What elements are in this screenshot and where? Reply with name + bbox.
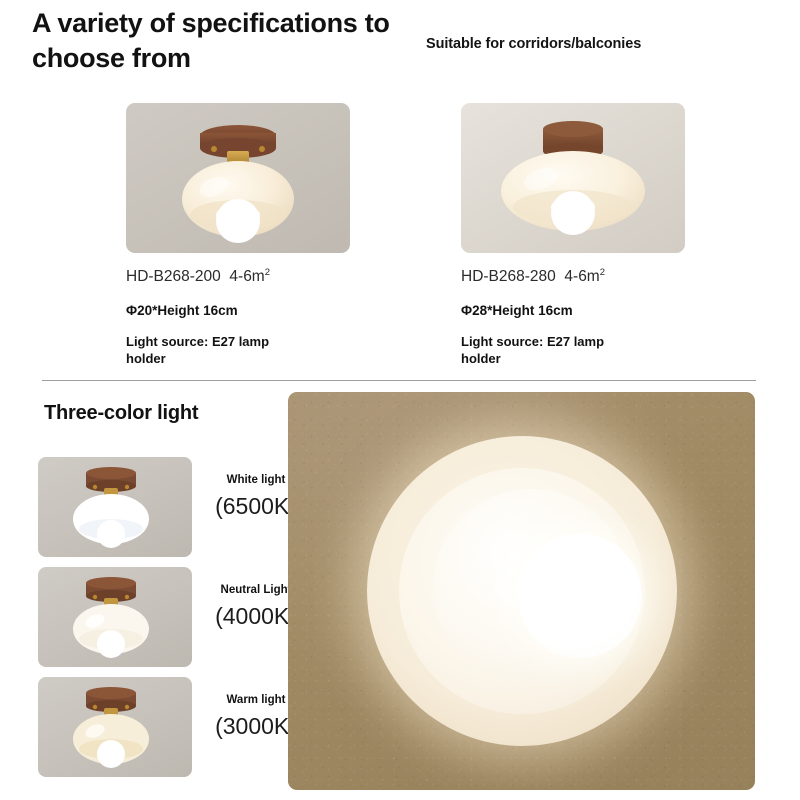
model-code: HD-B268-280: [461, 268, 556, 285]
dimensions-label: Φ20*Height 16cm: [126, 303, 436, 318]
dimensions-label: Φ28*Height 16cm: [461, 303, 771, 318]
spec-item-2: HD-B268-280 4-6m2 Φ28*Height 16cm Light …: [461, 103, 771, 367]
model-label: HD-B268-280 4-6m2: [461, 267, 771, 286]
ceiling-lamp-illustration: [38, 457, 192, 557]
light-source-label: Light source: E27 lamp holder: [461, 334, 636, 367]
subtitle-suitable-for: Suitable for corridors/balconies: [426, 36, 641, 52]
lamp-thumb-neutral-light: [38, 567, 192, 667]
three-color-heading: Three-color light: [44, 402, 198, 425]
color-temp-row-warm: Warm light (3000K): [38, 677, 288, 777]
ceiling-lamp-illustration: [126, 103, 350, 253]
spec-item-1: HD-B268-200 4-6m2 Φ20*Height 16cm Light …: [126, 103, 436, 367]
light-source-label: Light source: E27 lamp holder: [126, 334, 301, 367]
color-temp-row-white: White light (6500K): [38, 457, 288, 557]
coverage-superscript: 2: [265, 267, 270, 278]
lamp-photo-hd-b268-200: [126, 103, 350, 253]
coverage-superscript: 2: [600, 267, 605, 278]
lamp-thumb-warm-light: [38, 677, 192, 777]
color-temp-row-neutral: Neutral Light (4000K): [38, 567, 288, 667]
page-title: A variety of specifications to choose fr…: [32, 6, 432, 75]
model-code: HD-B268-200: [126, 268, 221, 285]
ceiling-lamp-illustration: [38, 567, 192, 667]
ceiling-lamp-illustration: [461, 103, 685, 253]
product-spec-page: A variety of specifications to choose fr…: [0, 0, 800, 800]
coverage-area: 4-6m: [564, 268, 599, 285]
coverage-area: 4-6m: [229, 268, 264, 285]
glowing-bulb: [518, 534, 642, 658]
model-label: HD-B268-200 4-6m2: [126, 267, 436, 286]
ceiling-lamp-illustration: [38, 677, 192, 777]
three-color-light-hero-photo: [288, 392, 755, 790]
lamp-photo-hd-b268-280: [461, 103, 685, 253]
section-divider: [42, 380, 756, 381]
lamp-thumb-white-light: [38, 457, 192, 557]
